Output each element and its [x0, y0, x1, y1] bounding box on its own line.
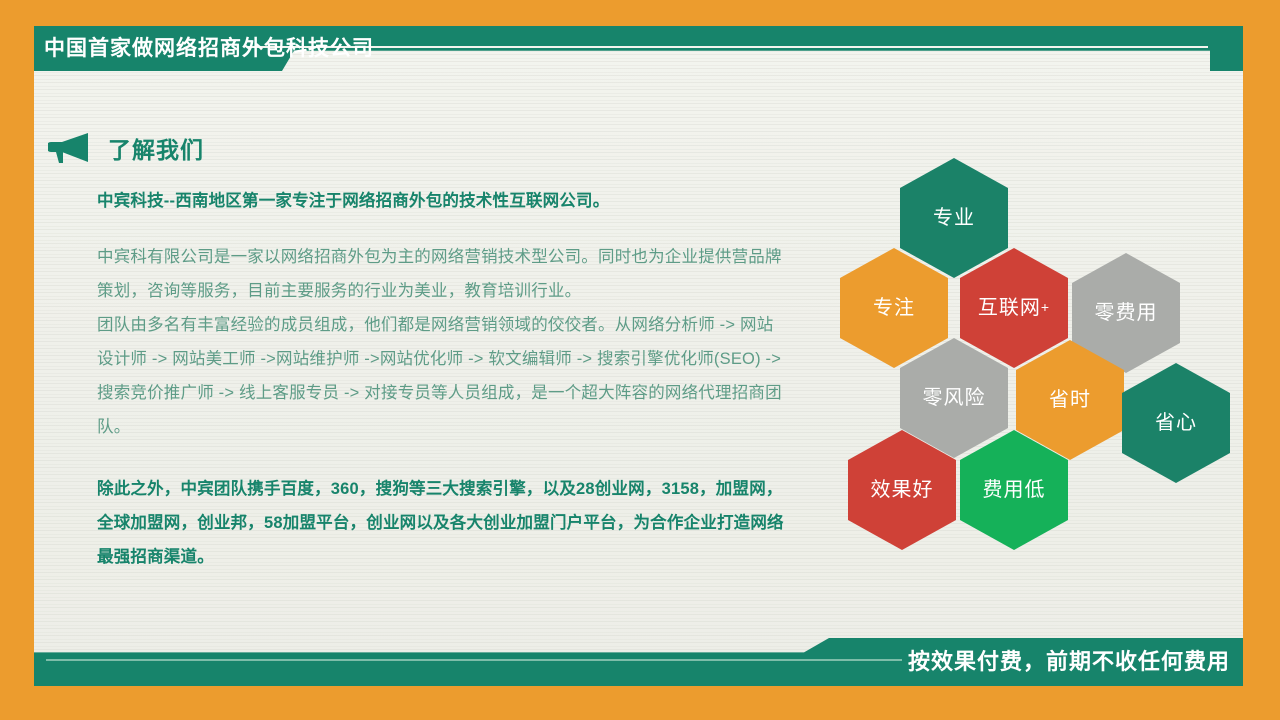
- slide-root: 中国首家做网络招商外包科技公司 了解我们 中宾科技--西南地区第一家专注于网络招…: [0, 0, 1280, 720]
- body-paragraph-2: 团队由多名有丰富经验的成员组成，他们都是网络营销领域的佼佼者。从网络分析师 ->…: [97, 308, 789, 444]
- hexagon-label: 专业: [933, 207, 975, 229]
- section-title: 了解我们: [108, 131, 204, 165]
- hexagon-label: 零费用: [1095, 302, 1158, 324]
- section-heading: 了解我们: [48, 131, 204, 165]
- body-paragraph-1: 中宾科有限公司是一家以网络招商外包为主的网络营销技术型公司。同时也为企业提供营品…: [97, 240, 789, 308]
- lead-paragraph: 中宾科技--西南地区第一家专注于网络招商外包的技术性互联网公司。: [97, 188, 789, 214]
- hexagon-tile: 互联网+: [960, 248, 1068, 368]
- hexagon-label: 省心: [1155, 412, 1197, 434]
- hexagon-tile: 省心: [1122, 363, 1230, 483]
- hexagon-tile: 专业: [900, 158, 1008, 278]
- header-hairline-divider: [248, 46, 1208, 48]
- hexagon-label: 省时: [1049, 389, 1091, 411]
- body-copy: 中宾科技--西南地区第一家专注于网络招商外包的技术性互联网公司。 中宾科有限公司…: [97, 188, 789, 574]
- hexagon-label: 效果好: [871, 479, 934, 501]
- megaphone-icon: [48, 131, 90, 165]
- hexagon-sublabel: +: [1041, 300, 1050, 316]
- page-title: 中国首家做网络招商外包科技公司: [44, 32, 374, 66]
- hexagon-label: 费用低: [983, 479, 1046, 501]
- closing-paragraph: 除此之外，中宾团队携手百度，360，搜狗等三大搜索引擎，以及28创业网，3158…: [97, 472, 789, 574]
- hexagon-label: 零风险: [923, 387, 986, 409]
- hexagon-tile: 专注: [840, 248, 948, 368]
- footer-tagline: 按效果付费，前期不收任何费用: [908, 645, 1230, 679]
- hexagon-label: 互联网: [978, 297, 1041, 319]
- footer-hairline-divider: [46, 659, 902, 661]
- hexagon-label: 专注: [873, 297, 915, 319]
- hexagon-cluster: 专业专注互联网+零费用零风险省时省心效果好费用低: [840, 158, 1230, 538]
